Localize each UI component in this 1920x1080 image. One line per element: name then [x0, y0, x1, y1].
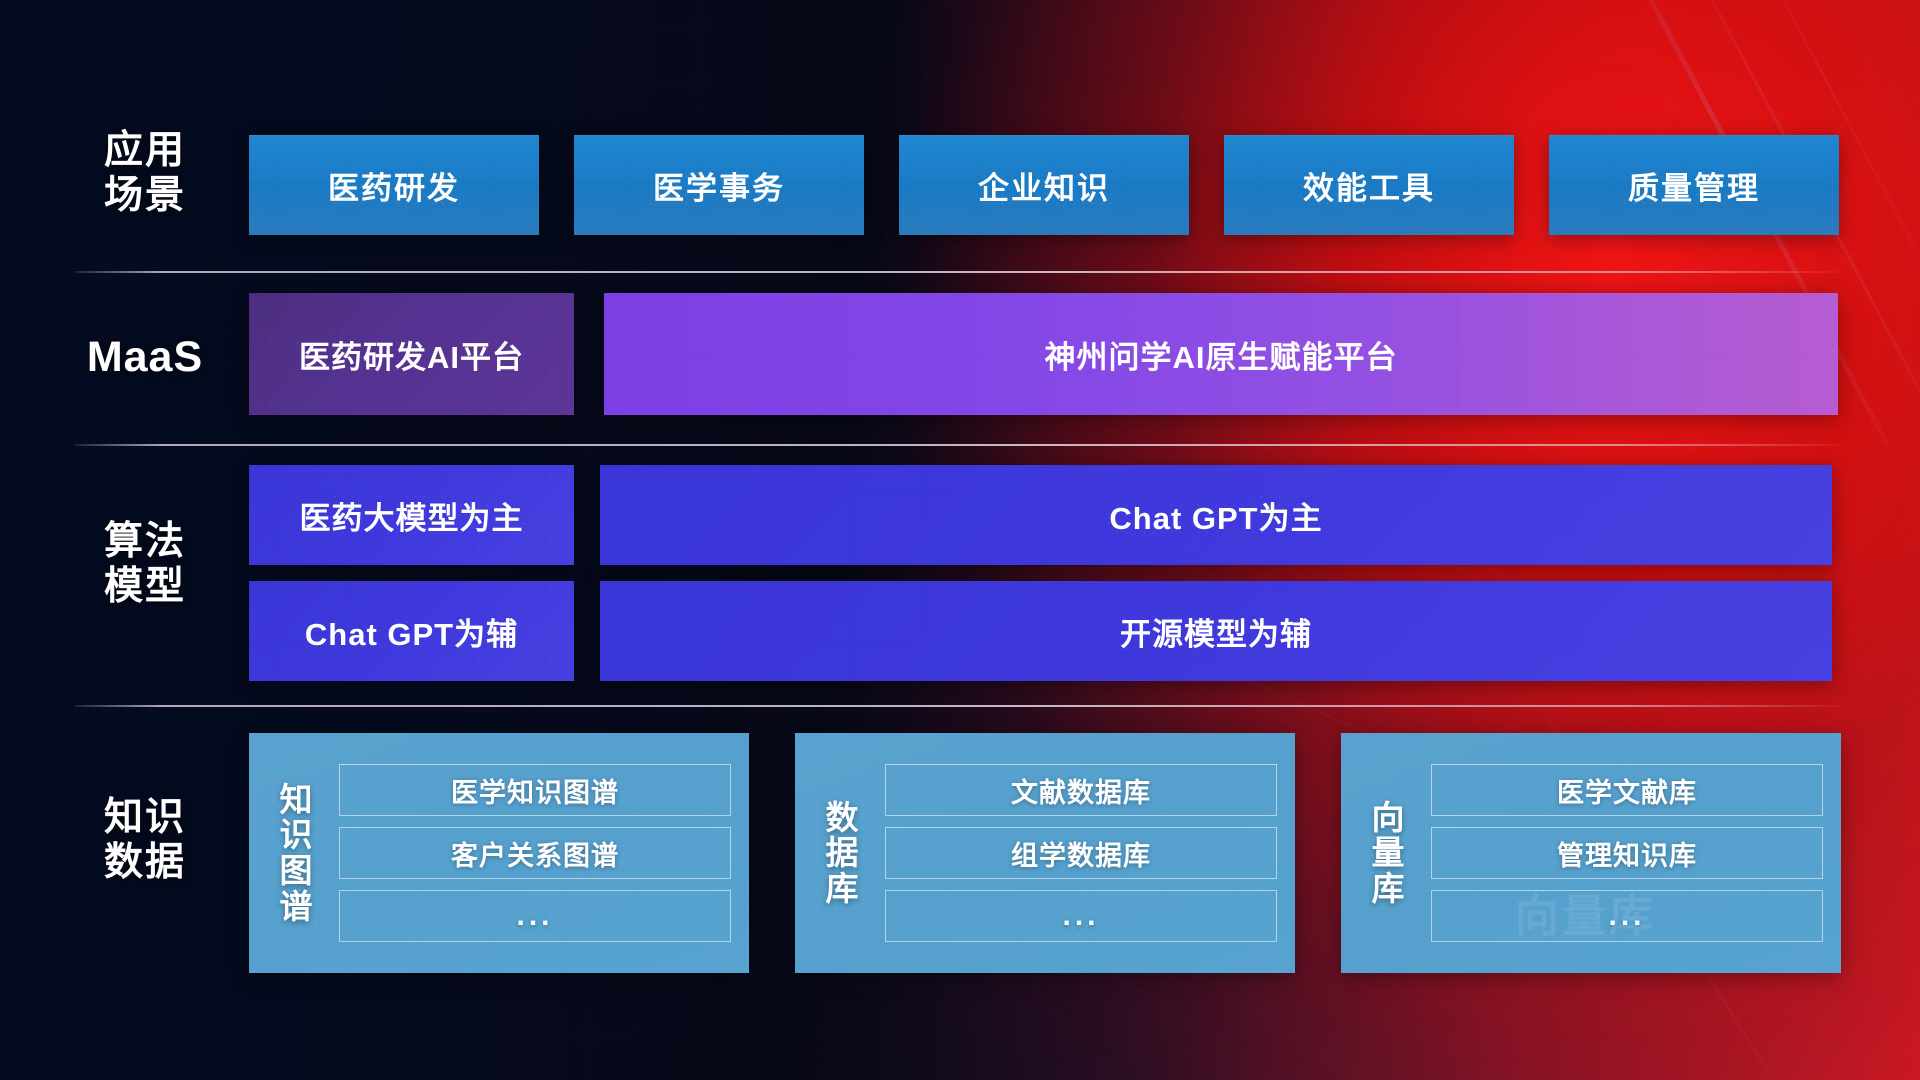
knowledge-item[interactable]: 管理知识库 [1431, 827, 1823, 879]
knowledge-item[interactable]: 医学知识图谱 [339, 764, 731, 816]
knowledge-group-graph[interactable]: 知识图谱 医学知识图谱 客户关系图谱 ... [249, 733, 749, 973]
knowledge-item-list: 文献数据库 组学数据库 ... [885, 764, 1277, 942]
knowledge-group-title: 向量库 [1359, 800, 1417, 907]
algorithm-model-box-left-primary[interactable]: 医药大模型为主 [249, 465, 574, 565]
knowledge-group-title: 数据库 [813, 800, 871, 907]
algorithm-model-label: Chat GPT为主 [1109, 493, 1322, 538]
app-scenario-label: 医学事务 [653, 163, 785, 208]
knowledge-item[interactable]: 组学数据库 [885, 827, 1277, 879]
app-scenario-box[interactable]: 效能工具 [1224, 135, 1514, 235]
row-label-maas: MaaS [75, 333, 215, 383]
knowledge-item[interactable]: 文献数据库 [885, 764, 1277, 816]
algorithm-model-label: 开源模型为辅 [1120, 609, 1312, 654]
row-divider [75, 444, 1838, 446]
knowledge-item[interactable]: 医学文献库 [1431, 764, 1823, 816]
maas-platform-box-left[interactable]: 医药研发AI平台 [249, 293, 574, 415]
knowledge-item[interactable]: 客户关系图谱 [339, 827, 731, 879]
row-label-application: 应用 场景 [75, 128, 215, 218]
knowledge-item-more[interactable]: ... [1431, 890, 1823, 942]
algorithm-model-label: 医药大模型为主 [300, 493, 524, 538]
knowledge-item-list: 医学文献库 管理知识库 ... [1431, 764, 1823, 942]
algorithm-model-box-right-primary[interactable]: Chat GPT为主 [600, 465, 1832, 565]
algorithm-model-box-left-secondary[interactable]: Chat GPT为辅 [249, 581, 574, 681]
architecture-diagram: 应用 场景 医药研发 医学事务 企业知识 效能工具 质量管理 MaaS 医药研发… [0, 0, 1920, 1080]
app-scenario-label: 医药研发 [328, 163, 460, 208]
knowledge-group-vector[interactable]: 向量库 医学文献库 管理知识库 ... [1341, 733, 1841, 973]
app-scenario-box[interactable]: 医药研发 [249, 135, 539, 235]
row-divider [75, 705, 1838, 707]
knowledge-item-more[interactable]: ... [885, 890, 1277, 942]
knowledge-group-title: 知识图谱 [267, 782, 325, 925]
row-label-knowledge: 知识 数据 [75, 795, 215, 885]
app-scenario-label: 质量管理 [1628, 163, 1760, 208]
row-label-algorithm: 算法 模型 [75, 519, 215, 609]
maas-platform-label: 神州问学AI原生赋能平台 [1045, 332, 1398, 377]
knowledge-item-list: 医学知识图谱 客户关系图谱 ... [339, 764, 731, 942]
app-scenario-box[interactable]: 医学事务 [574, 135, 864, 235]
app-scenario-label: 企业知识 [978, 163, 1110, 208]
maas-platform-box-right[interactable]: 神州问学AI原生赋能平台 [604, 293, 1838, 415]
row-divider [75, 271, 1838, 273]
knowledge-item-more[interactable]: ... [339, 890, 731, 942]
algorithm-model-label: Chat GPT为辅 [305, 609, 518, 654]
algorithm-model-box-right-secondary[interactable]: 开源模型为辅 [600, 581, 1832, 681]
app-scenario-box[interactable]: 质量管理 [1549, 135, 1839, 235]
maas-platform-label: 医药研发AI平台 [299, 332, 524, 377]
app-scenario-label: 效能工具 [1303, 163, 1435, 208]
knowledge-group-database[interactable]: 数据库 文献数据库 组学数据库 ... [795, 733, 1295, 973]
app-scenario-box[interactable]: 企业知识 [899, 135, 1189, 235]
